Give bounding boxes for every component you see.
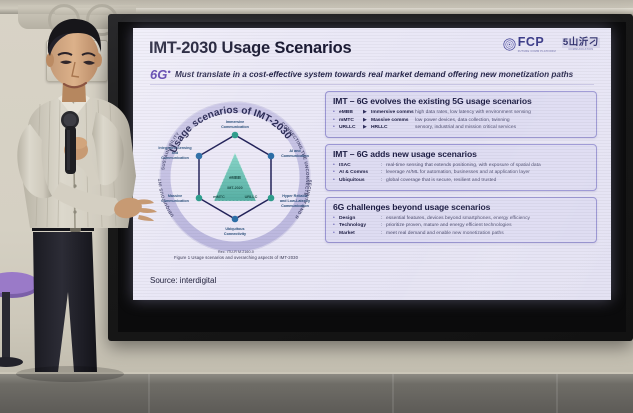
node-massive-communication bbox=[196, 195, 203, 202]
triangle-label-embb: eMBB bbox=[229, 175, 241, 180]
presenter-trousers bbox=[33, 232, 97, 372]
row-key: ISAC bbox=[339, 162, 381, 169]
node-integrated-sensing bbox=[196, 153, 203, 160]
row-desc: leverage AI/ML for automation, businesse… bbox=[386, 169, 530, 176]
imt-2030-diagram-svg: SUSTAINABILITY CONNECTING THE UNCONNECTE… bbox=[149, 91, 321, 251]
subtitle-divider bbox=[150, 84, 594, 85]
panel-heading: 6G challenges beyond usage scenarios bbox=[333, 202, 589, 212]
partner-logo-subtext: COMMUNICATION bbox=[568, 48, 593, 51]
node-label-immersive-communication-2: Communication bbox=[221, 125, 250, 129]
panel-row: • URLLC ▶ HRLLC sensory, industrial and … bbox=[333, 124, 589, 132]
row-desc: real-time sensing that extends positioni… bbox=[386, 162, 541, 169]
page-title: IMT-2030 Usage Scenarios bbox=[149, 39, 351, 58]
panel-row: • Technology : prioritize proven, mature… bbox=[333, 222, 589, 230]
logo-group: FCP FUTURE COMM PLATFORM 5山沂刁 COMMUNICAT… bbox=[503, 36, 600, 53]
panel-row: • Ubiquitous : global coverage that is s… bbox=[333, 177, 589, 185]
presentation-slide: IMT-2030 Usage Scenarios FCP FUTURE COMM… bbox=[133, 28, 611, 300]
node-label-massive-communication-2: Communication bbox=[161, 199, 190, 203]
node-label-hrllc-3: Communication bbox=[281, 204, 310, 208]
row-key: AI & Comms bbox=[339, 169, 381, 176]
slide-subtitle-row: 6G● Must translate in a cost-effective s… bbox=[150, 68, 573, 81]
triangle-label-urllc: URLLC bbox=[245, 195, 258, 199]
row-key: Design bbox=[339, 215, 381, 222]
panel-challenges: 6G challenges beyond usage scenarios • D… bbox=[325, 197, 597, 244]
triangle-label-5g: IMT-2020 bbox=[227, 186, 242, 190]
node-hyper-reliable-low-latency bbox=[268, 195, 275, 202]
panel-new-scenarios: IMT – 6G adds new usage scenarios • ISAC… bbox=[325, 144, 597, 191]
floor-seam bbox=[392, 374, 394, 413]
row-to: HRLLC bbox=[371, 124, 415, 131]
fcp-logo-text: FCP bbox=[518, 36, 556, 49]
diagram-caption: Rec. ITU-R M.2160-0 Figure 1 Usage scena… bbox=[147, 250, 325, 260]
node-ubiquitous-connectivity bbox=[232, 216, 239, 223]
node-label-isac-3: Communication bbox=[161, 156, 190, 160]
node-label-isac-1: Integrated Sensing bbox=[158, 146, 191, 150]
node-label-ubiquitous-connectivity: Ubiquitous bbox=[225, 227, 244, 231]
diagram-caption-line1: Rec. ITU-R M.2160-0 bbox=[147, 250, 325, 254]
row-from: mMTC bbox=[339, 117, 363, 124]
partner-logo: 5山沂刁 COMMUNICATION bbox=[562, 38, 600, 51]
panel-heading: IMT – 6G evolves the existing 5G usage s… bbox=[333, 96, 589, 106]
panel-row: • mMTC ▶ Massive comms low power devices… bbox=[333, 117, 589, 125]
panel-row: • AI & Comms : leverage AI/ML for automa… bbox=[333, 169, 589, 177]
row-desc: sensory, industrial and mission critical… bbox=[415, 124, 516, 131]
triangle-label-mmtc: mMTC bbox=[213, 195, 225, 199]
slide-subtitle: Must translate in a cost-effective syste… bbox=[175, 70, 573, 79]
node-label-hrllc-2: and Low-Latency bbox=[280, 199, 311, 203]
row-to: Massive comms bbox=[371, 117, 415, 124]
row-desc: global coverage that is secure, resilien… bbox=[386, 177, 496, 184]
row-key: Ubiquitous bbox=[339, 177, 381, 184]
floor-seam bbox=[556, 374, 558, 413]
panel-row: • Design : essential features, devices b… bbox=[333, 215, 589, 223]
panel-row: • ISAC : real-time sensing that extends … bbox=[333, 162, 589, 170]
fcp-logo-subtext: FUTURE COMM PLATFORM bbox=[518, 50, 556, 53]
diagram-caption-line2: Figure 1 Usage scenarios and overarching… bbox=[147, 255, 325, 260]
node-label-ai-and-communication-2: Communication bbox=[281, 154, 310, 158]
presentation-photo-scene: IMT-2030 Usage Scenarios FCP FUTURE COMM… bbox=[0, 0, 633, 413]
row-key: Technology bbox=[339, 222, 381, 229]
node-label-ai-and-communication: AI and bbox=[289, 149, 301, 153]
fcp-swirl-icon bbox=[503, 38, 516, 51]
node-label-massive-communication: Massive bbox=[168, 194, 182, 198]
arrow-icon: ▶ bbox=[363, 124, 371, 132]
node-immersive-communication bbox=[232, 132, 239, 139]
row-desc: high data rates, low latency with enviro… bbox=[415, 109, 531, 116]
fcp-logo: FCP FUTURE COMM PLATFORM bbox=[503, 36, 556, 53]
node-label-isac-2: and bbox=[172, 151, 179, 155]
node-label-immersive-communication: Immersive bbox=[226, 120, 244, 124]
row-from: URLLC bbox=[339, 124, 363, 131]
row-desc: prioritize proven, mature and energy eff… bbox=[386, 222, 512, 229]
panel-evolves-5g: IMT – 6G evolves the existing 5G usage s… bbox=[325, 91, 597, 138]
arrow-icon: ▶ bbox=[363, 117, 371, 125]
node-ai-and-communication bbox=[268, 153, 275, 160]
panel-row: • Market : meet real demand and enable n… bbox=[333, 230, 589, 238]
row-desc: essential features, devices beyond smart… bbox=[386, 215, 530, 222]
panel-heading: IMT – 6G adds new usage scenarios bbox=[333, 149, 589, 159]
imt-2030-usage-scenarios-diagram: SUSTAINABILITY CONNECTING THE UNCONNECTE… bbox=[149, 91, 321, 251]
partner-logo-text: 5山沂刁 bbox=[562, 38, 600, 48]
row-to: Immersive comms bbox=[371, 109, 415, 116]
panel-group: IMT – 6G evolves the existing 5G usage s… bbox=[325, 91, 597, 249]
row-desc: low power devices, data collection, twin… bbox=[415, 117, 510, 124]
panel-row: • eMBB ▶ Immersive comms high data rates… bbox=[333, 109, 589, 117]
row-from: eMBB bbox=[339, 109, 363, 116]
arrow-icon: ▶ bbox=[363, 109, 371, 117]
row-desc: meet real demand and enable new monetiza… bbox=[386, 230, 504, 237]
presenter-figure bbox=[0, 0, 160, 413]
row-key: Market bbox=[339, 230, 381, 237]
node-label-hrllc-1: Hyper Reliable bbox=[282, 194, 308, 198]
node-label-ubiquitous-connectivity-2: Connectivity bbox=[224, 232, 247, 236]
stool bbox=[0, 272, 38, 367]
